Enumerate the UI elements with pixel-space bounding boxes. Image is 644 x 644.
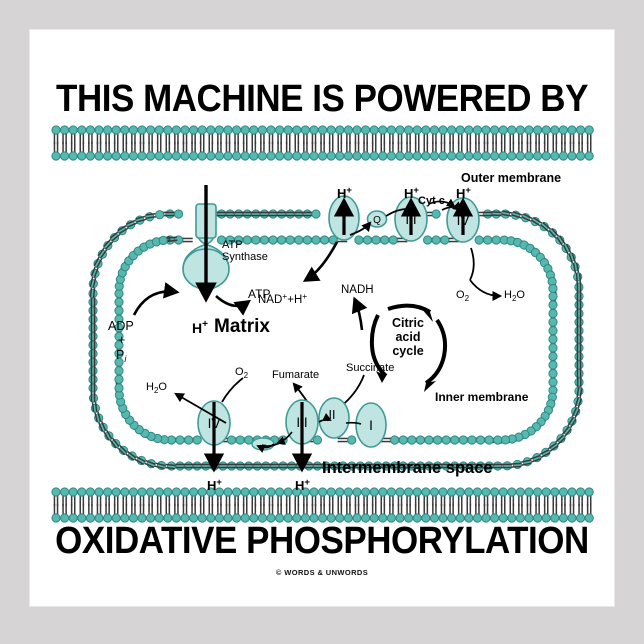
phosphate-label: Pi bbox=[116, 348, 127, 364]
proton-atp-synthase-label: H+ bbox=[192, 319, 208, 336]
proton-top-3-label: H+ bbox=[456, 185, 471, 201]
poster-canvas: THIS MACHINE IS POWERED BY bbox=[30, 30, 614, 606]
water-bottom-label: H2O bbox=[146, 381, 167, 395]
poster-credit: © WORDS & UNWORDS bbox=[30, 568, 614, 577]
succinate-label: Succinate bbox=[346, 362, 394, 374]
ubiquinone-Q-top-label: Q bbox=[373, 215, 381, 226]
oxygen-bottom-label: O2 bbox=[235, 366, 249, 380]
atp-synthase-label-line1: ATP bbox=[222, 239, 243, 251]
outer-membrane-label: Outer membrane bbox=[461, 171, 561, 185]
inner-membrane-label: Inner membrane bbox=[435, 390, 529, 404]
oxygen-top-label: O2 bbox=[456, 289, 470, 303]
complex-I-bottom[interactable]: I bbox=[356, 403, 386, 447]
nadh-label: NADH bbox=[341, 284, 374, 296]
intermembrane-space-label: Intermembrane space bbox=[322, 459, 493, 477]
matrix-label: Matrix bbox=[214, 316, 270, 337]
poster-title-bottom: OXIDATIVE PHOSPHORYLATION bbox=[53, 520, 590, 562]
water-top-label: H2O bbox=[504, 289, 525, 303]
atp-synthase-label-line2: Synthase bbox=[222, 251, 268, 263]
cytochrome-c-top-label: Cyt c bbox=[418, 195, 445, 207]
citric-cycle-line2: acid bbox=[395, 330, 420, 344]
complex-I-bottom-roman: I bbox=[369, 418, 373, 433]
nad-plus-label: NAD++H+ bbox=[258, 291, 307, 306]
plus-sign-label: + bbox=[118, 333, 125, 347]
membrane-bar-top bbox=[52, 126, 593, 160]
ubiquinone-Q-top[interactable]: Q bbox=[368, 211, 387, 227]
adp-label: ADP bbox=[108, 319, 134, 333]
complex-II-bottom[interactable]: II bbox=[319, 398, 349, 438]
membrane-bar-bottom bbox=[52, 488, 593, 522]
citric-cycle-line3: cycle bbox=[392, 344, 423, 358]
citric-acid-cycle: Citric acid cycle bbox=[372, 306, 445, 392]
fumarate-label: Fumarate bbox=[272, 369, 319, 381]
citric-cycle-line1: Citric bbox=[392, 316, 424, 330]
